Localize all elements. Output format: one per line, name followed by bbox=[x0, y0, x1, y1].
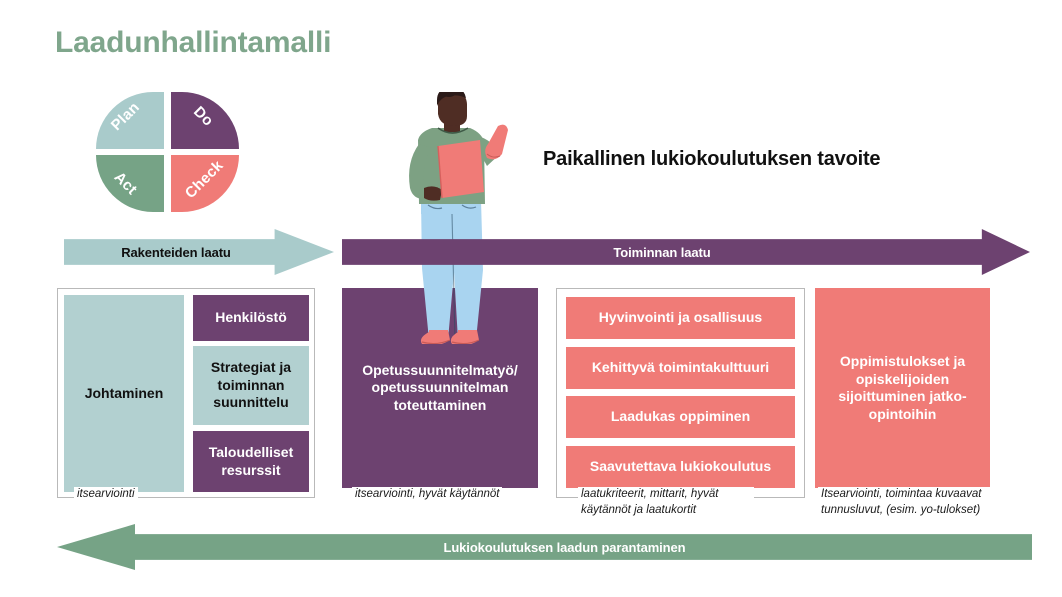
pdca-quadrant-act: Act bbox=[96, 155, 164, 212]
box-henkilosto: Henkilöstö bbox=[193, 295, 309, 341]
arrow-structures-quality: Rakenteiden laatu bbox=[64, 229, 334, 275]
box-kehittyva-toimintakulttuuri: Kehittyvä toimintakulttuuri bbox=[566, 347, 795, 389]
box-hyvinvointi-ja-osallisuus: Hyvinvointi ja osallisuus bbox=[566, 297, 795, 339]
pdca-quadrant-check: Check bbox=[171, 155, 239, 212]
diagram-canvas: Laadunhallintamalli Plan Do Act Check Pa… bbox=[0, 0, 1062, 597]
box-oppimistulokset: Oppimistulokset ja opiskelijoiden sijoit… bbox=[815, 288, 990, 488]
pdca-label-do: Do bbox=[190, 103, 217, 130]
box-saavutettava-lukiokoulutus: Saavutettava lukiokoulutus bbox=[566, 446, 795, 488]
pdca-label-plan: Plan bbox=[108, 99, 143, 134]
box-strategiat: Strategiat ja toiminnan suunnittelu bbox=[193, 346, 309, 425]
pdca-quadrant-plan: Plan bbox=[96, 92, 164, 149]
arrow-operations-label: Toiminnan laatu bbox=[613, 245, 710, 260]
page-title: Laadunhallintamalli bbox=[55, 26, 331, 60]
pdca-quadrant-do: Do bbox=[171, 92, 239, 149]
pdca-cycle: Plan Do Act Check bbox=[96, 92, 239, 212]
box-laadukas-oppiminen: Laadukas oppiminen bbox=[566, 396, 795, 438]
caption-curriculum: itsearviointi, hyvät käytännöt bbox=[352, 487, 502, 503]
caption-quality-areas: laatukriteerit, mittarit, hyvät käytännö… bbox=[578, 487, 754, 518]
arrow-structures-label: Rakenteiden laatu bbox=[121, 245, 231, 260]
box-taloudelliset: Taloudelliset resurssit bbox=[193, 431, 309, 492]
caption-outcomes: Itsearviointi, toimintaa kuvaavat tunnus… bbox=[818, 487, 1014, 518]
arrow-quality-improvement: Lukiokoulutuksen laadun parantaminen bbox=[57, 524, 1032, 570]
arrow-improvement-label: Lukiokoulutuksen laadun parantaminen bbox=[444, 540, 686, 555]
pdca-label-act: Act bbox=[111, 169, 141, 199]
pdca-label-check: Check bbox=[182, 157, 227, 202]
goal-heading: Paikallinen lukiokoulutuksen tavoite bbox=[543, 148, 880, 171]
caption-structures: itsearviointi bbox=[74, 487, 138, 503]
person-reading-book-illustration bbox=[388, 92, 520, 344]
box-johtaminen: Johtaminen bbox=[64, 295, 184, 492]
